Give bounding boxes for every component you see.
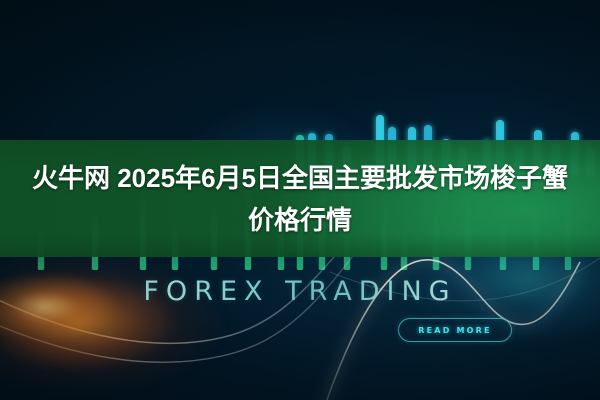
title-line-2: 价格行情 bbox=[248, 199, 352, 241]
read-more-button[interactable]: READ MORE bbox=[398, 318, 512, 342]
banner-image: 火牛网 2025年6月5日全国主要批发市场梭子蟹 价格行情 FOREX TRAD… bbox=[0, 0, 600, 400]
page-title: 火牛网 2025年6月5日全国主要批发市场梭子蟹 价格行情 bbox=[0, 140, 600, 257]
read-more-label: READ MORE bbox=[418, 326, 491, 335]
title-line-1: 火牛网 2025年6月5日全国主要批发市场梭子蟹 bbox=[32, 157, 568, 199]
wordmark: FOREX TRADING bbox=[0, 276, 600, 307]
